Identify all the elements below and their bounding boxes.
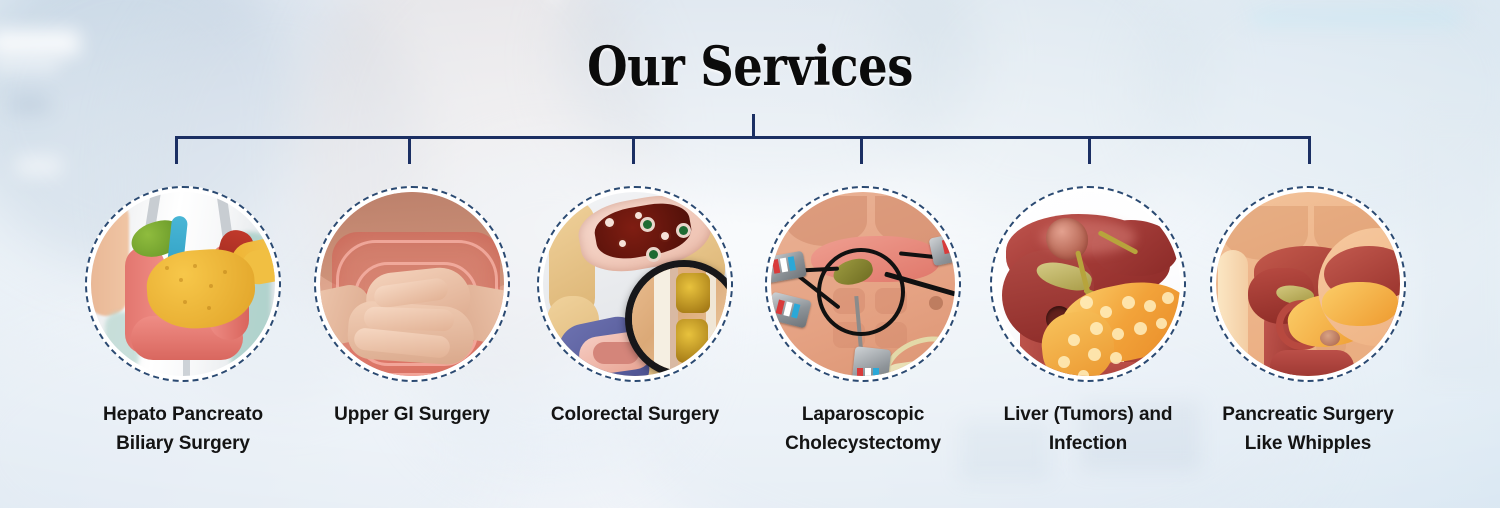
service-label: Hepato Pancreato Biliary Surgery [68, 400, 298, 459]
services-row: Hepato Pancreato Biliary Surgery [0, 186, 1500, 486]
connector-drop-line [408, 136, 411, 164]
artwork-hepatobiliary-model [91, 192, 275, 376]
connector-drop-line [1088, 136, 1091, 164]
service-image-circle[interactable] [1210, 186, 1406, 382]
service-image-circle[interactable] [85, 186, 281, 382]
service-label: Liver (Tumors) and Infection [973, 400, 1203, 459]
service-item-hepato-pancreato-biliary-surgery[interactable]: Hepato Pancreato Biliary Surgery [68, 186, 298, 459]
artwork-abdominal-pain [320, 192, 504, 376]
service-item-laparoscopic-cholecystectomy[interactable]: Laparoscopic Cholecystectomy [748, 186, 978, 459]
service-image [771, 192, 955, 376]
service-image-circle[interactable] [990, 186, 1186, 382]
service-label: Pancreatic Surgery Like Whipples [1193, 400, 1423, 459]
service-label-line: Pancreatic Surgery [1193, 400, 1423, 429]
service-label-line: Upper GI Surgery [297, 400, 527, 429]
connector-bracket [0, 0, 1500, 200]
service-label-line: Biliary Surgery [68, 429, 298, 458]
artwork-liver-tumor [996, 192, 1180, 376]
service-label-line: Like Whipples [1193, 429, 1423, 458]
service-item-colorectal-surgery[interactable]: Colorectal Surgery [520, 186, 750, 429]
artwork-colorectal-model [543, 192, 727, 376]
connector-horizontal-line [175, 136, 1311, 139]
infographic-stage: Our Services [0, 0, 1500, 508]
service-label-line: Colorectal Surgery [520, 400, 750, 429]
connector-drop-line [632, 136, 635, 164]
service-label-line: Infection [973, 429, 1203, 458]
service-image-circle[interactable] [765, 186, 961, 382]
connector-drop-line [860, 136, 863, 164]
connector-drop-line [1308, 136, 1311, 164]
service-item-liver-tumors-and-infection[interactable]: Liver (Tumors) and Infection [973, 186, 1203, 459]
service-image [996, 192, 1180, 376]
service-label: Upper GI Surgery [297, 400, 527, 429]
service-image [543, 192, 727, 376]
service-image [320, 192, 504, 376]
service-image [1216, 192, 1400, 376]
service-item-pancreatic-surgery-like-whipples[interactable]: Pancreatic Surgery Like Whipples [1193, 186, 1423, 459]
service-label: Laparoscopic Cholecystectomy [748, 400, 978, 459]
connector-stem [752, 114, 755, 138]
service-image-circle[interactable] [537, 186, 733, 382]
service-label: Colorectal Surgery [520, 400, 750, 429]
service-image [91, 192, 275, 376]
service-label-line: Liver (Tumors) and [973, 400, 1203, 429]
service-item-upper-gi-surgery[interactable]: Upper GI Surgery [297, 186, 527, 429]
service-label-line: Hepato Pancreato [68, 400, 298, 429]
connector-drop-line [175, 136, 178, 164]
service-label-line: Laparoscopic [748, 400, 978, 429]
artwork-whipple-procedure [1216, 192, 1400, 376]
service-label-line: Cholecystectomy [748, 429, 978, 458]
service-image-circle[interactable] [314, 186, 510, 382]
artwork-laparoscopic-surgery [771, 192, 955, 376]
